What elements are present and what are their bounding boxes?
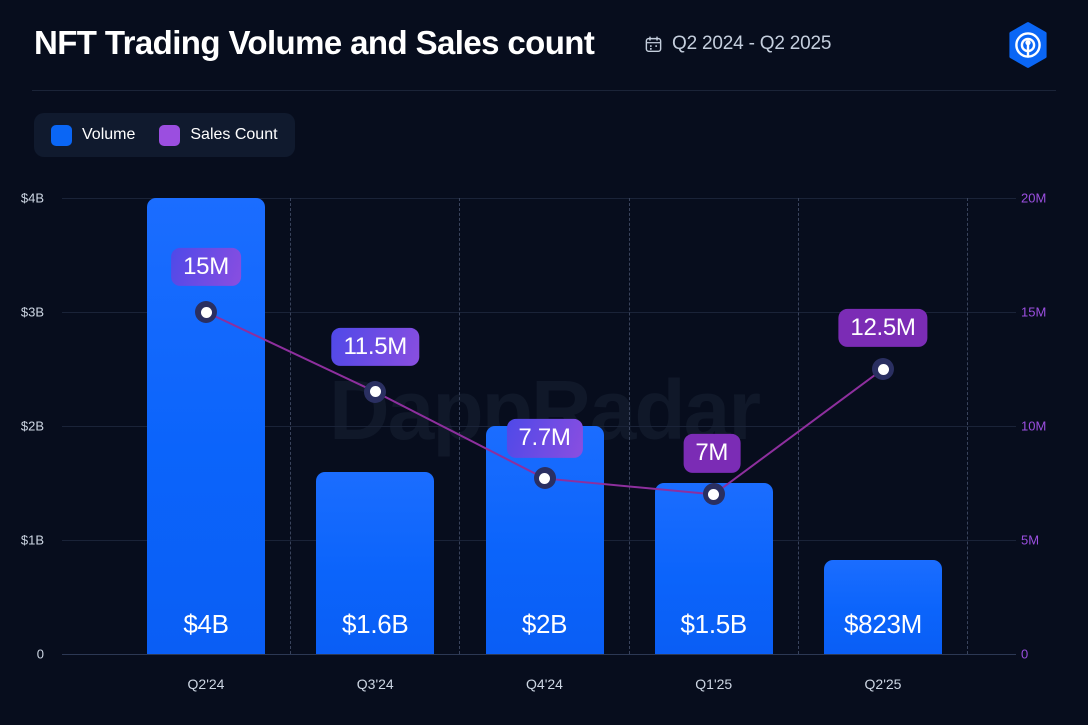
category-separator — [459, 198, 460, 654]
y-axis-right-tick: 20M — [1021, 191, 1046, 206]
x-axis-tick: Q2'24 — [188, 676, 225, 692]
data-point-marker[interactable] — [364, 381, 386, 403]
gridline — [62, 654, 1016, 655]
bar-value-label: $1.5B — [655, 609, 773, 640]
data-point-marker[interactable] — [534, 467, 556, 489]
y-axis-right-tick: 15M — [1021, 305, 1046, 320]
bar-volume[interactable]: $1.5B — [655, 483, 773, 654]
y-axis-left-tick: $4B — [21, 191, 44, 206]
x-axis-tick: Q2'25 — [865, 676, 902, 692]
bar-volume[interactable]: $823M — [824, 560, 942, 654]
sales-count-badge: 7.7M — [506, 419, 582, 457]
x-axis-tick: Q4'24 — [526, 676, 563, 692]
bar-volume[interactable]: $2B — [486, 426, 604, 654]
sales-count-badge: 15M — [171, 248, 241, 286]
y-axis-left-tick: $1B — [21, 533, 44, 548]
category-separator — [967, 198, 968, 654]
chart-page: NFT Trading Volume and Sales count Q2 20… — [0, 0, 1088, 725]
bar-volume[interactable]: $1.6B — [316, 472, 434, 654]
bar-value-label: $823M — [824, 609, 942, 640]
data-point-marker[interactable] — [872, 358, 894, 380]
y-axis-right-tick: 0 — [1021, 647, 1028, 662]
data-point-marker[interactable] — [703, 483, 725, 505]
category-separator — [290, 198, 291, 654]
sales-count-badge: 12.5M — [838, 309, 927, 347]
sales-count-badge: 11.5M — [332, 328, 419, 366]
x-axis-tick: Q3'24 — [357, 676, 394, 692]
bar-value-label: $2B — [486, 609, 604, 640]
category-separator — [629, 198, 630, 654]
y-axis-left-tick: $3B — [21, 305, 44, 320]
sales-count-badge: 7M — [683, 434, 740, 472]
y-axis-right-tick: 5M — [1021, 533, 1039, 548]
category-separator — [798, 198, 799, 654]
bar-value-label: $4B — [147, 609, 265, 640]
y-axis-left-tick: $2B — [21, 419, 44, 434]
data-point-marker[interactable] — [195, 301, 217, 323]
bar-value-label: $1.6B — [316, 609, 434, 640]
chart-plot-area: DappRadar 0$1B$2B$3B$4B 05M10M15M20M $4B… — [0, 0, 1088, 725]
y-axis-left-tick: 0 — [37, 647, 44, 662]
y-axis-right-tick: 10M — [1021, 419, 1046, 434]
x-axis-tick: Q1'25 — [695, 676, 732, 692]
